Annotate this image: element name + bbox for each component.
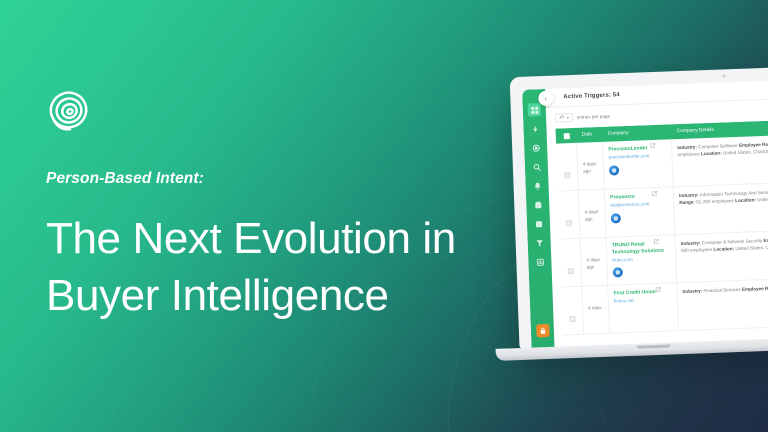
table-row[interactable]: 4 days First Credit Union firstcu.net — [561, 278, 768, 335]
row-checkbox[interactable] — [569, 315, 575, 321]
sidebar-item-building[interactable] — [531, 198, 544, 211]
row-company-url[interactable]: precisionlender.com — [608, 152, 666, 161]
row-select-cell — [558, 191, 581, 239]
row-company-url[interactable]: truno.com — [612, 255, 670, 264]
row-date: 4 days ago — [584, 209, 599, 223]
table-header-company[interactable]: Company — [603, 129, 672, 137]
row-company-cell: Prosource totalprosource.com — [605, 187, 676, 236]
triggers-table: Date Company Company Details 4 days ago — [547, 119, 768, 349]
industry-label: Industry: — [682, 288, 702, 294]
industry-label: Industry: — [681, 240, 701, 246]
company-logo-mark — [616, 271, 620, 275]
laptop-mockup: ‹ — [499, 57, 768, 388]
employee-label: Employee Range: — [739, 141, 768, 147]
table-header-select-all[interactable] — [556, 132, 577, 139]
employee-label: Employee Range: — [742, 285, 768, 291]
row-checkbox[interactable] — [568, 268, 574, 274]
row-details: Industry: Information Technology And Ser… — [679, 187, 768, 206]
row-date-cell: 4 days ago — [577, 142, 605, 190]
building-icon — [534, 201, 542, 209]
row-details-cell: Industry: Computer Software Employee Ran… — [672, 134, 768, 186]
row-company-cell: First Credit Union firstcu.net — [608, 283, 679, 332]
company-logo — [609, 165, 619, 175]
external-link-icon[interactable] — [650, 143, 655, 148]
row-details-cell: Industry: Financial Services Employee Ra… — [677, 278, 768, 330]
row-company-url[interactable]: firstcu.net — [614, 296, 672, 305]
row-date: 4 days — [588, 305, 603, 312]
row-select-cell — [560, 239, 583, 287]
row-date: 4 days ago — [586, 257, 601, 271]
employee-value: 51-200 employees — [696, 198, 734, 204]
industry-label: Industry: — [677, 144, 697, 150]
industry-value: Computer Software — [698, 143, 738, 149]
location-label: Location: — [701, 151, 722, 157]
row-date: 4 days ago — [583, 161, 598, 175]
row-date-cell: 4 days — [582, 286, 610, 334]
app-main-panel: Active Triggers: 54 10 ▾ entries per pag… — [545, 79, 768, 349]
hero-content: Person-Based Intent: The Next Evolution … — [46, 88, 516, 324]
chart-icon — [536, 258, 544, 266]
company-logo-mark — [612, 168, 616, 172]
sidebar-item-bell[interactable] — [530, 179, 543, 192]
sidebar-item-chart[interactable] — [533, 255, 546, 268]
target-icon — [532, 144, 540, 152]
company-logo — [611, 213, 621, 223]
row-details-cell: Industry: Information Technology And Ser… — [674, 182, 768, 234]
sidebar-item-filter[interactable] — [532, 236, 545, 249]
industry-label: Industry: — [679, 192, 699, 198]
sidebar-item-target[interactable] — [529, 141, 542, 154]
row-date-cell: 4 days ago — [581, 238, 609, 286]
chevron-left-icon: ‹ — [544, 94, 547, 102]
row-company-cell: TRUNO Retail Technology Solutions truno.… — [607, 235, 678, 284]
filter-icon — [535, 239, 543, 247]
laptop-trackpad-notch — [637, 345, 671, 349]
entries-per-page-label: entries per page — [577, 114, 610, 120]
laptop-camera — [723, 74, 726, 77]
app-screen: ‹ — [522, 79, 768, 349]
row-company-url[interactable]: totalprosource.com — [610, 200, 668, 209]
laptop-lid: ‹ — [510, 67, 768, 349]
hero-eyebrow: Person-Based Intent: — [46, 170, 516, 188]
location-value: United States, Lubbock — [735, 244, 768, 251]
row-details-cell: Industry: Computer & Network Security Em… — [675, 230, 768, 282]
location-label: Location: — [713, 246, 734, 252]
row-details: Industry: Financial Services Employee Ra… — [682, 283, 768, 295]
row-company-cell: PrecisionLender precisionlender.com — [603, 139, 674, 188]
table-row[interactable]: 4 days ago TRUNO Retail Technology Solut… — [560, 230, 768, 287]
row-select-cell — [556, 143, 579, 191]
entries-per-page-select[interactable]: 10 ▾ — [555, 113, 573, 123]
row-checkbox[interactable] — [564, 172, 570, 178]
sidebar-item-layers[interactable] — [532, 217, 545, 230]
layers-icon — [534, 220, 542, 228]
search-icon — [532, 163, 540, 171]
row-checkbox[interactable] — [566, 220, 572, 226]
sidebar-item-dashboard[interactable] — [528, 103, 541, 116]
row-details: Industry: Computer Software Employee Ran… — [677, 139, 768, 158]
page-title: The Next Evolution in Buyer Intelligence — [46, 210, 516, 324]
lock-icon — [539, 327, 546, 334]
select-all-checkbox[interactable] — [563, 133, 569, 139]
row-company-name[interactable]: TRUNO Retail Technology Solutions — [612, 240, 670, 256]
location-label: Location: — [735, 197, 756, 203]
row-select-cell — [561, 287, 584, 335]
app-title: Active Triggers: 54 — [563, 92, 620, 100]
industry-value: Information Technology And Services — [700, 190, 768, 198]
dashboard-icon — [530, 106, 538, 114]
entries-per-page-value: 10 — [559, 116, 564, 120]
employee-label: Employee Range: — [763, 237, 768, 243]
location-value: United States, Cincinnati — [757, 196, 768, 203]
external-link-icon[interactable] — [654, 239, 659, 244]
company-logo-mark — [614, 216, 618, 220]
industry-value: Financial Services — [703, 287, 740, 293]
row-date-cell: 4 days ago — [579, 190, 607, 238]
row-details: Industry: Computer & Network Security Em… — [681, 235, 768, 254]
chevron-down-icon: ▾ — [567, 116, 569, 120]
spiral-thumbprint-logo — [46, 88, 92, 134]
external-link-icon[interactable] — [652, 191, 657, 196]
bolt-icon — [531, 125, 539, 133]
external-link-icon[interactable] — [655, 287, 660, 292]
industry-value: Computer & Network Security — [702, 238, 763, 245]
sidebar-item-bolt[interactable] — [528, 122, 541, 135]
table-header-date[interactable]: Date — [577, 132, 603, 138]
table-header-company-details[interactable]: Company Details — [672, 124, 768, 134]
sidebar-item-lock[interactable] — [536, 324, 549, 337]
table-row[interactable]: 4 days ago PrecisionLender precisionlend… — [556, 134, 768, 191]
bell-icon — [533, 182, 541, 190]
sidebar-item-search[interactable] — [530, 160, 543, 173]
company-logo — [613, 268, 623, 278]
location-value: United States, Charlotte — [723, 149, 768, 156]
table-row[interactable]: 4 days ago Prosource totalprosource.com — [558, 182, 768, 239]
